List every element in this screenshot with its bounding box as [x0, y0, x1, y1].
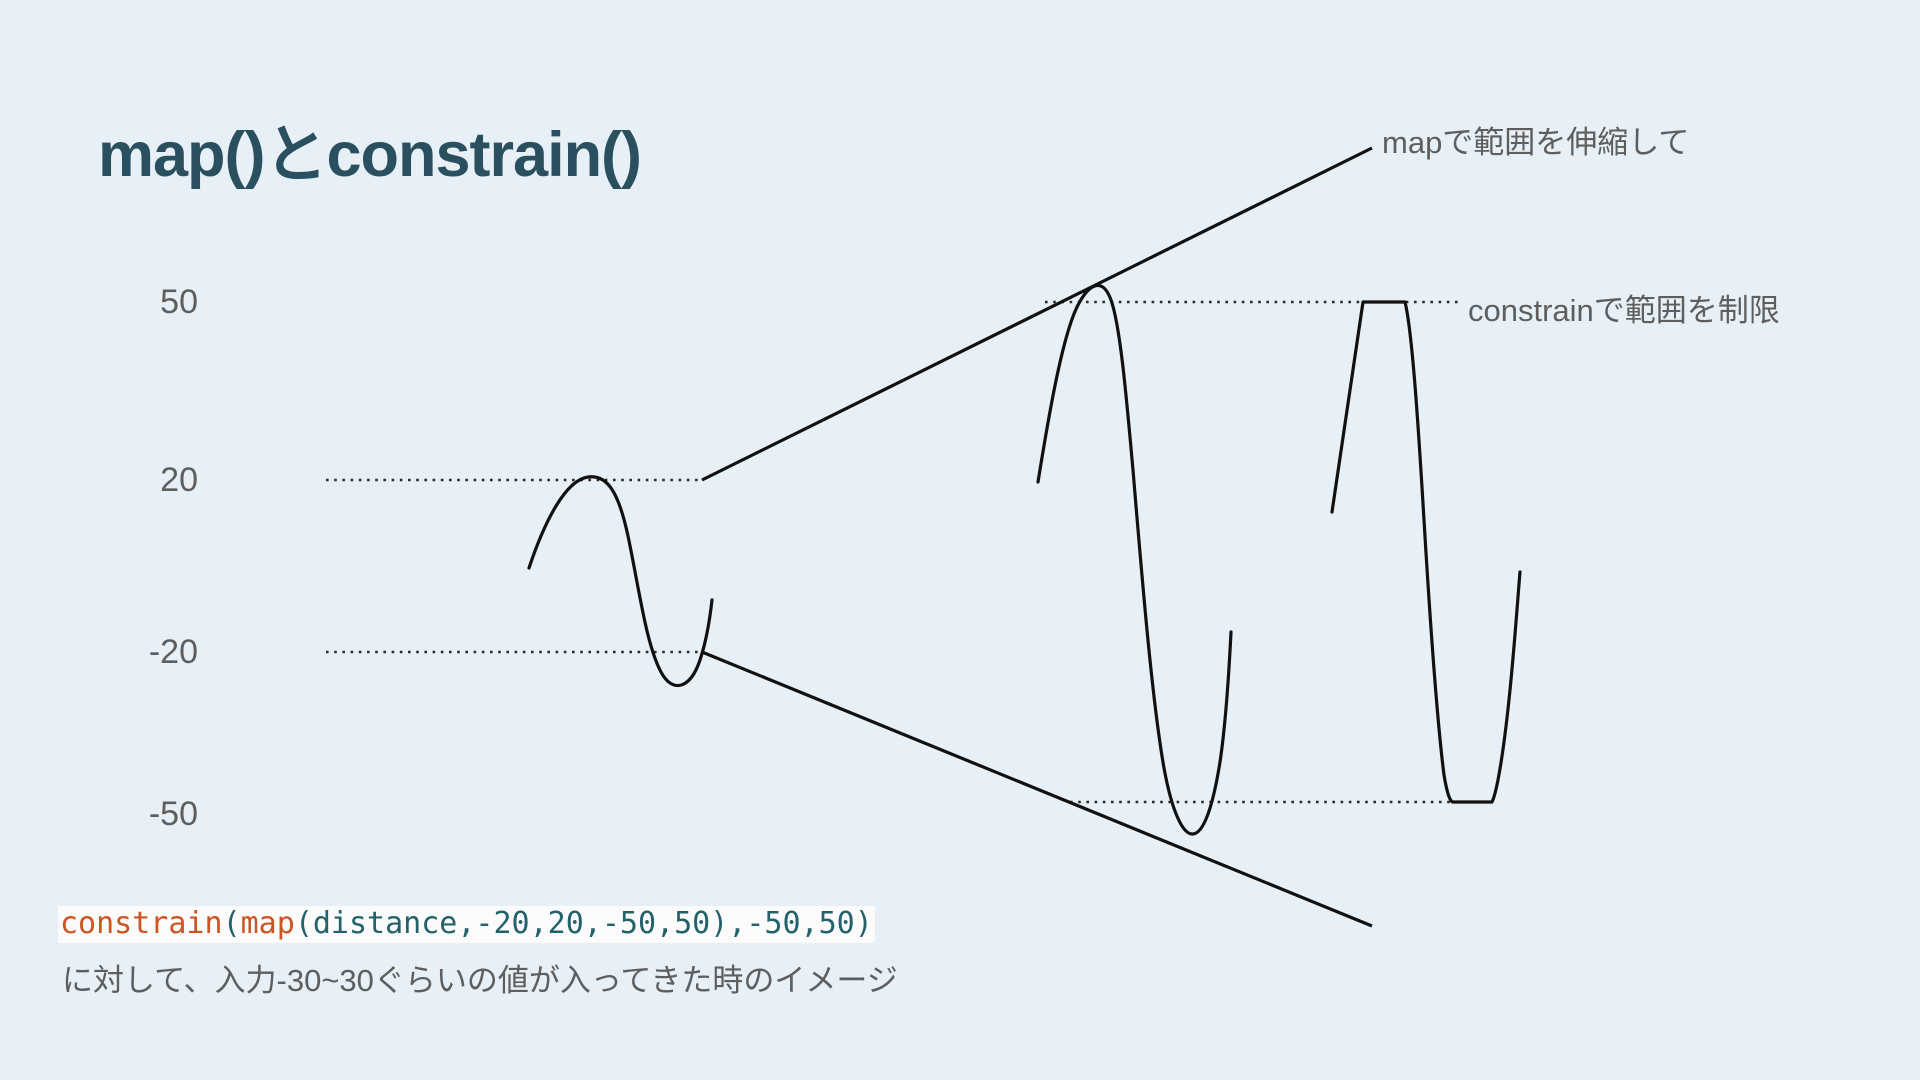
- caption-text: に対して、入力-30~30ぐらいの値が入ってきた時のイメージ: [62, 955, 898, 1000]
- code-expression: constrain(map(distance,-20,20,-50,50),-5…: [58, 906, 875, 943]
- code-constrain-args: ,-50,50): [728, 906, 873, 941]
- code-fn-constrain: constrain: [60, 906, 223, 941]
- map-cone-upper: [702, 148, 1372, 480]
- code-fn-map: map: [241, 906, 295, 941]
- waveform-input: [529, 477, 712, 686]
- map-cone-lower: [702, 652, 1372, 926]
- waveform-mapped: [1038, 285, 1231, 834]
- code-open-paren: (: [223, 906, 241, 941]
- code-map-args: (distance,-20,20,-50,50): [295, 906, 728, 941]
- slide-canvas: map()とconstrain() 50 20 -20 -50 mapで範囲を伸…: [0, 0, 1920, 1080]
- waveform-constrained: [1332, 302, 1520, 802]
